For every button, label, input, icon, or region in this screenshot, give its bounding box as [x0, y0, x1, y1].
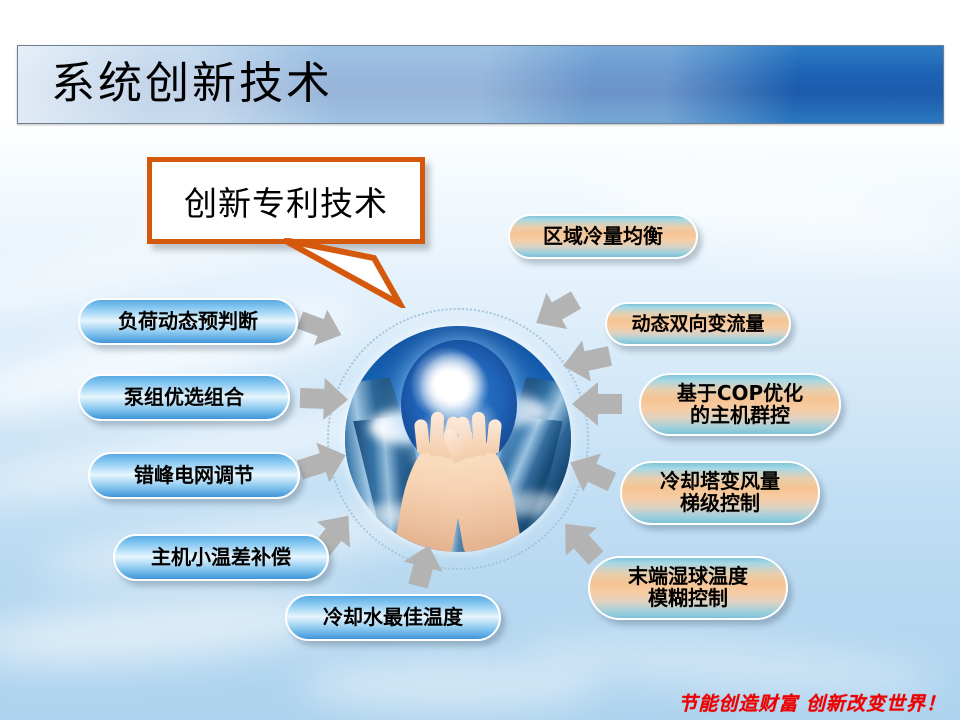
page-title: 系统创新技术 [51, 62, 333, 106]
left-item-4-label: 冷却水最佳温度 [315, 607, 471, 629]
right-item-4-label-line1: 末端湿球温度 [620, 566, 756, 588]
left-item-0[interactable]: 负荷动态预判断 [78, 298, 298, 345]
right-item-2-label-line2: 的主机群控 [682, 405, 798, 427]
right-item-1[interactable]: 动态双向变流量 [605, 302, 791, 346]
right-item-3-label-line1: 冷却塔变风量 [652, 471, 788, 493]
left-item-3-label: 主机小温差补偿 [143, 547, 299, 569]
right-item-3-label-line2: 梯级控制 [672, 493, 768, 515]
footer-slogan: 节能创造财富 创新改变世界！ [678, 689, 946, 716]
center-hub [327, 308, 589, 570]
right-item-4[interactable]: 末端湿球温度 模糊控制 [588, 556, 788, 620]
right-item-2-label-line1: 基于COP优化 [669, 383, 811, 405]
right-item-1-label: 动态双向变流量 [623, 314, 772, 335]
hands-holding-globe-photo [345, 326, 571, 552]
left-item-1-label: 泵组优选组合 [116, 387, 252, 409]
left-item-1[interactable]: 泵组优选组合 [78, 374, 290, 421]
right-item-0[interactable]: 区域冷量均衡 [508, 214, 698, 259]
callout-label: 创新专利技术 [152, 162, 420, 239]
right-item-4-label-line2: 模糊控制 [640, 588, 736, 610]
cloud-streak-icon [300, 660, 600, 710]
left-item-2[interactable]: 错峰电网调节 [88, 452, 300, 499]
slide-canvas: 系统创新技术 创新专利技术 [0, 0, 960, 720]
callout-box: 创新专利技术 [147, 157, 425, 244]
title-banner: 系统创新技术 [17, 45, 944, 124]
left-item-2-label: 错峰电网调节 [126, 465, 262, 487]
left-item-3[interactable]: 主机小温差补偿 [113, 534, 329, 581]
right-item-3[interactable]: 冷却塔变风量 梯级控制 [620, 461, 820, 525]
right-item-0-label: 区域冷量均衡 [535, 226, 671, 248]
left-item-0-label: 负荷动态预判断 [110, 311, 266, 333]
callout-pointer-icon [282, 238, 422, 308]
left-item-4[interactable]: 冷却水最佳温度 [285, 594, 501, 641]
right-item-2[interactable]: 基于COP优化 的主机群控 [639, 373, 841, 436]
